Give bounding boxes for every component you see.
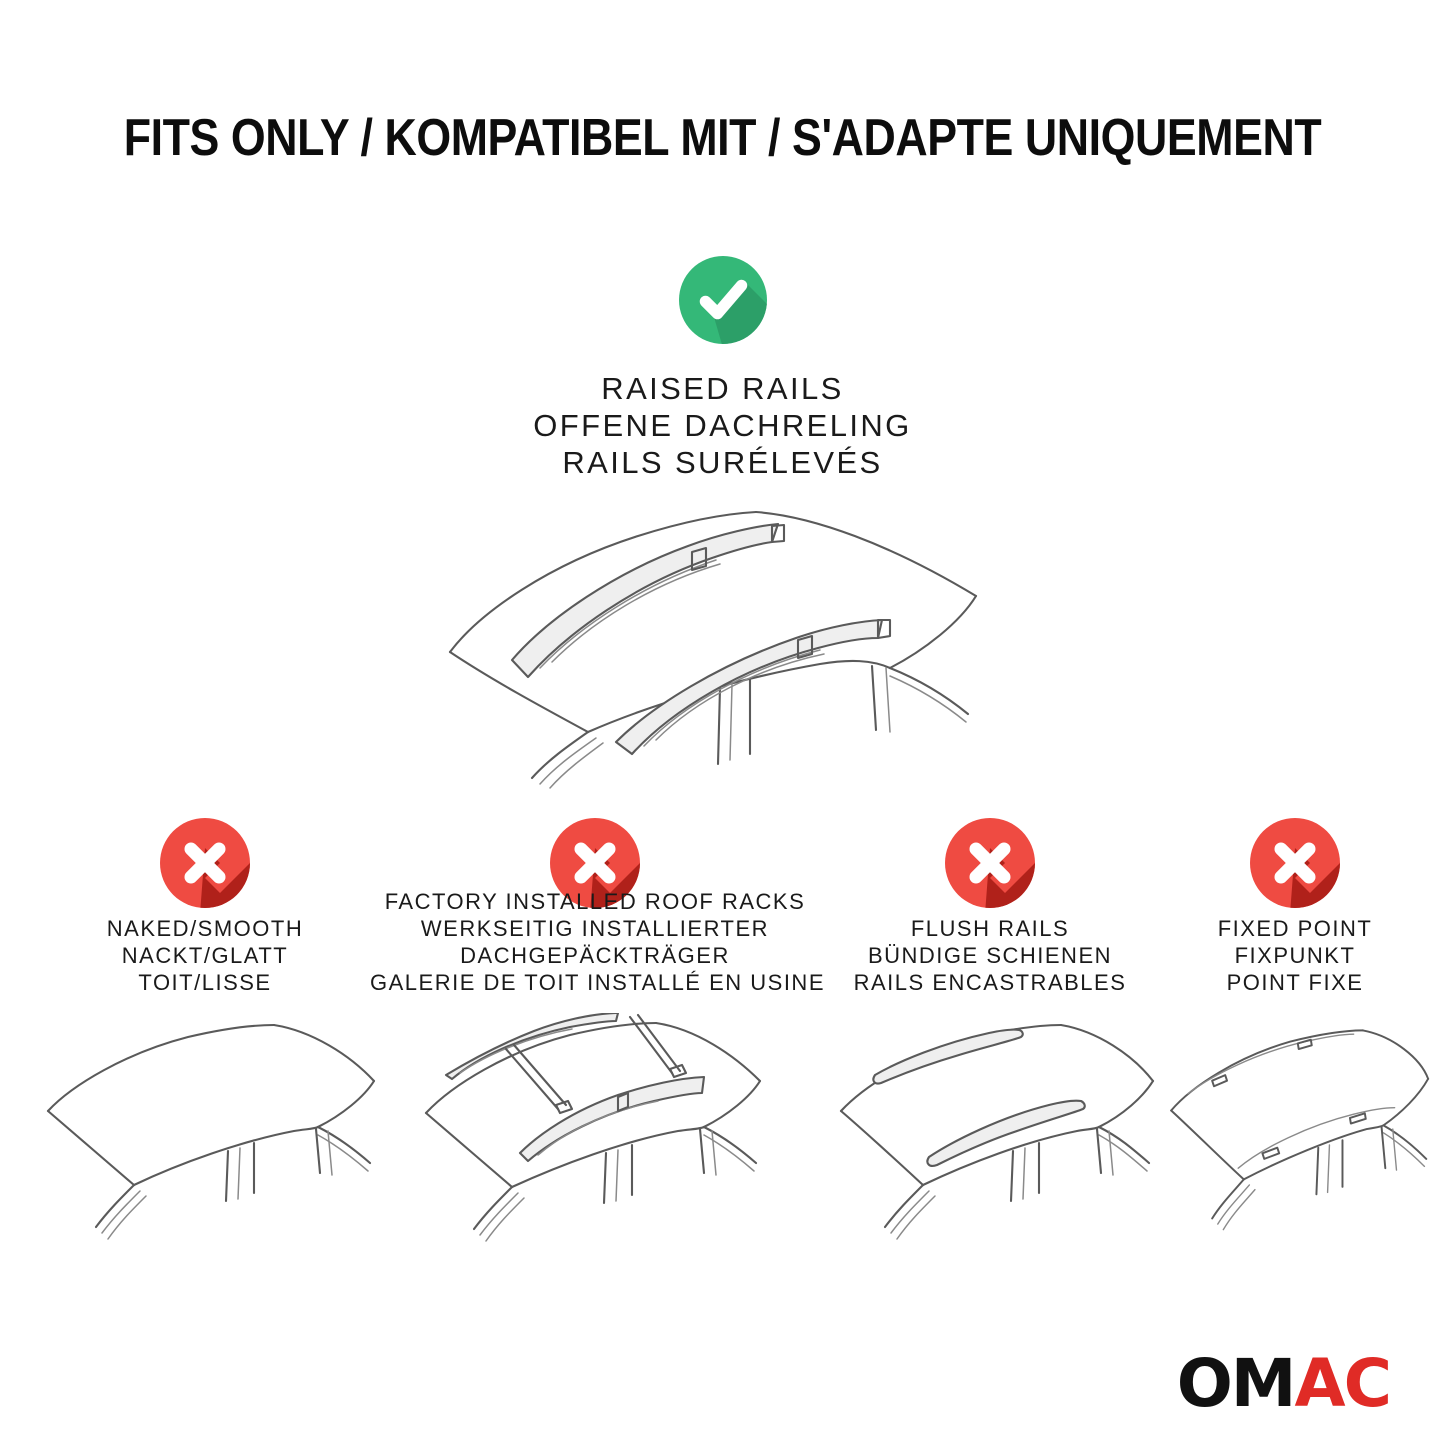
car-roof-flush-rails-illustration [825,1013,1155,1248]
label-line-en: FIXED POINT [1160,915,1430,942]
x-circle-icon [160,818,250,908]
column-labels-flush-rails: FLUSH RAILS BÜNDIGE SCHIENEN RAILS ENCAS… [825,915,1155,996]
car-roof-naked-illustration [30,1013,380,1248]
not-fits-column-factory-racks: FACTORY INSTALLED ROOF RACKS WERKSEITIG … [370,818,820,1248]
fits-label-en: RAISED RAILS [533,370,911,407]
label-line-fr: GALERIE DE TOIT INSTALLÉ EN USINE [370,969,820,996]
page-title: FITS ONLY / KOMPATIBEL MIT / S'ADAPTE UN… [101,108,1344,168]
label-line-de: NACKT/GLATT [30,942,380,969]
label-line-en: FACTORY INSTALLED ROOF RACKS [370,888,820,915]
car-roof-factory-racks-illustration [370,1013,820,1248]
not-fits-section: NAKED/SMOOTH NACKT/GLATT TOIT/LISSE [0,818,1445,1248]
label-line-en: NAKED/SMOOTH [30,915,380,942]
fits-section: RAISED RAILS OFFENE DACHRELING RAILS SUR… [0,256,1445,481]
not-fits-column-naked: NAKED/SMOOTH NACKT/GLATT TOIT/LISSE [30,818,380,1248]
column-labels-fixed-point: FIXED POINT FIXPUNKT POINT FIXE [1160,915,1430,996]
x-circle-icon [1250,818,1340,908]
logo-accent-part: AC [1294,1345,1390,1422]
not-fits-column-fixed-point: FIXED POINT FIXPUNKT POINT FIXE [1160,818,1430,1248]
car-roof-raised-rails-illustration [420,492,1020,792]
check-circle-icon [679,256,767,344]
x-circle-icon [945,818,1035,908]
label-line-fr: TOIT/LISSE [30,969,380,996]
not-fits-column-flush-rails: FLUSH RAILS BÜNDIGE SCHIENEN RAILS ENCAS… [825,818,1155,1248]
label-line-de-2: DACHGEPÄCKTRÄGER [370,942,820,969]
label-line-fr: RAILS ENCASTRABLES [825,969,1155,996]
compatibility-infographic: FITS ONLY / KOMPATIBEL MIT / S'ADAPTE UN… [0,0,1445,1445]
label-line-de: FIXPUNKT [1160,942,1430,969]
label-line-en: FLUSH RAILS [825,915,1155,942]
column-labels-naked: NAKED/SMOOTH NACKT/GLATT TOIT/LISSE [30,915,380,996]
fits-label-fr: RAILS SURÉLEVÉS [533,444,911,481]
column-labels-factory-racks: FACTORY INSTALLED ROOF RACKS WERKSEITIG … [370,888,820,996]
label-line-de: BÜNDIGE SCHIENEN [825,942,1155,969]
label-line-de-1: WERKSEITIG INSTALLIERTER [370,915,820,942]
label-line-fr: POINT FIXE [1160,969,1430,996]
omac-logo: OMAC [1177,1351,1390,1417]
fits-label-de: OFFENE DACHRELING [533,407,911,444]
logo-dark-part: OM [1177,1345,1295,1422]
fits-labels: RAISED RAILS OFFENE DACHRELING RAILS SUR… [533,370,911,481]
car-roof-fixed-point-illustration [1160,1013,1430,1248]
